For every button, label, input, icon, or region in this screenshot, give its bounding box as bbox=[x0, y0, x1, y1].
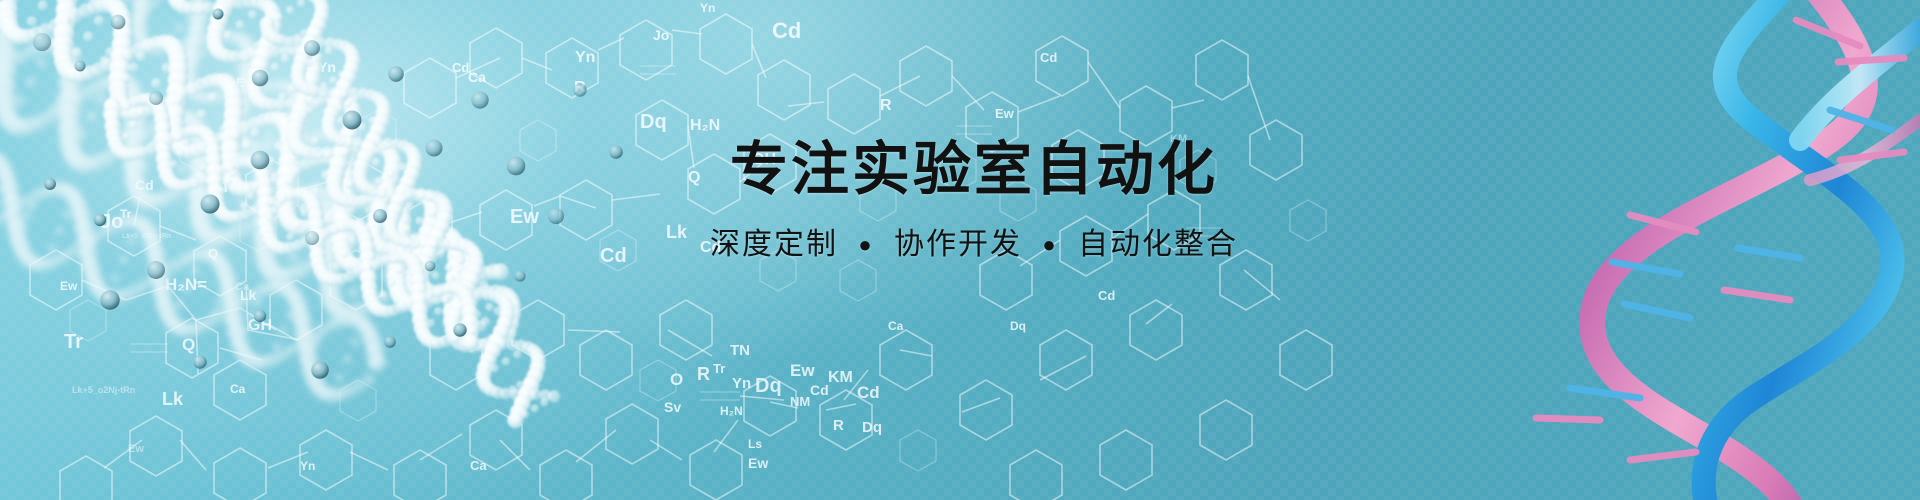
dna-rung-bead bbox=[137, 108, 145, 116]
dna-bead-dark bbox=[111, 15, 126, 30]
chem-label: R bbox=[833, 417, 844, 434]
dna-rung-bead bbox=[200, 48, 209, 57]
helix-base-pair bbox=[1838, 58, 1904, 62]
dna-rung-bead bbox=[143, 7, 152, 16]
dna-rung-bead bbox=[138, 161, 149, 172]
dna-rung-bead bbox=[208, 93, 218, 103]
dna-bead-dark bbox=[74, 60, 85, 71]
chem-label: NM bbox=[790, 394, 810, 409]
chem-label: Cd bbox=[810, 382, 829, 398]
helix-base-pair bbox=[1536, 418, 1600, 420]
dna-bead-dark bbox=[254, 310, 266, 322]
dna-bead-dark bbox=[453, 323, 466, 336]
dna-rung-bead bbox=[428, 209, 436, 217]
dna-rung-bead bbox=[284, 175, 294, 185]
dna-rung-bead bbox=[241, 326, 250, 335]
dna-rung-bead bbox=[27, 16, 37, 26]
dna-rung-bead bbox=[540, 398, 548, 406]
dna-rung-bead bbox=[335, 373, 344, 382]
dna-bead bbox=[548, 390, 560, 402]
dna-rung-bead bbox=[128, 62, 138, 72]
dna-rung-bead bbox=[395, 266, 403, 274]
dna-rung-bead bbox=[38, 0, 48, 10]
chem-label: Ca bbox=[888, 319, 904, 333]
dna-rung-bead bbox=[272, 342, 281, 351]
chem-label: H₂N bbox=[720, 404, 743, 418]
dna-rung-bead bbox=[175, 301, 184, 310]
dna-rung-bead bbox=[235, 20, 244, 29]
dna-rung-bead bbox=[312, 100, 321, 109]
dna-rung-bead bbox=[253, 299, 262, 308]
dna-rung-bead bbox=[403, 225, 411, 233]
dna-rung-bead bbox=[218, 187, 226, 195]
dna-rung-bead bbox=[441, 295, 449, 303]
dna-rung-bead bbox=[15, 96, 26, 107]
dna-bead-dark bbox=[548, 208, 564, 224]
dna-rung-bead bbox=[223, 30, 232, 39]
dna-rung-bead bbox=[36, 58, 47, 69]
dna-rung-bead bbox=[76, 129, 87, 140]
dna-rung-bead bbox=[404, 191, 412, 199]
dna-rung-bead bbox=[55, 227, 64, 236]
dna-rung-bead bbox=[485, 303, 493, 311]
dna-rung-bead bbox=[274, 13, 282, 21]
dna-rung-bead bbox=[531, 404, 539, 412]
pearl-dna-strands bbox=[0, 0, 680, 500]
chem-label: R bbox=[697, 364, 710, 384]
chem-label: Tr bbox=[713, 361, 725, 376]
dna-rung-bead bbox=[177, 163, 188, 174]
dna-rung-bead bbox=[223, 178, 231, 186]
dna-rung-bead bbox=[314, 333, 323, 342]
chem-label: H₂N bbox=[690, 117, 720, 134]
dna-rung-bead bbox=[111, 274, 120, 283]
dna-rung-bead bbox=[169, 160, 177, 168]
dna-rung-bead bbox=[348, 237, 356, 245]
helix-base-pair bbox=[1738, 248, 1800, 258]
dna-bead-dark bbox=[94, 214, 106, 226]
dna-rung-bead bbox=[72, 47, 82, 57]
chem-label: Ew bbox=[748, 455, 768, 471]
dna-rung-bead bbox=[343, 355, 352, 364]
hero-banner: TrJoTrH₂N=GHQLkCaLk+5_o2Nj-tRnLk+5_o2Nj-… bbox=[0, 0, 1920, 500]
dna-bead bbox=[262, 140, 276, 154]
dna-bead-dark bbox=[147, 261, 165, 279]
chem-label: Yn bbox=[732, 375, 751, 392]
dna-rung-bead bbox=[157, 0, 166, 1]
chem-label: Yn bbox=[700, 1, 715, 15]
dna-rung-bead bbox=[286, 6, 294, 14]
dna-bead bbox=[363, 374, 376, 387]
dna-bead bbox=[368, 353, 387, 372]
dna-rung-bead bbox=[23, 212, 32, 221]
dna-rung-bead bbox=[305, 59, 313, 67]
dna-rung-bead bbox=[48, 243, 57, 252]
page-title: 专注实验室自动化 bbox=[604, 140, 1344, 201]
bullet-separator-icon: ● bbox=[848, 232, 883, 257]
dna-bead bbox=[475, 320, 487, 332]
dna-rung-bead bbox=[85, 245, 94, 254]
dna-rung-bead bbox=[521, 410, 529, 418]
helix-base-pair bbox=[1624, 304, 1690, 318]
dna-rung-bead bbox=[151, 78, 161, 88]
subtitle-part-1: 深度定制 bbox=[710, 228, 838, 261]
dna-bead bbox=[10, 203, 23, 216]
dna-bead-dark bbox=[507, 157, 526, 176]
chem-label: Cd bbox=[1040, 50, 1057, 65]
chem-label: Ew bbox=[790, 361, 815, 380]
dna-bead bbox=[492, 263, 509, 280]
dna-rung-bead bbox=[340, 250, 348, 258]
dna-rung-bead bbox=[63, 210, 72, 219]
dna-rung-bead bbox=[18, 223, 27, 232]
chem-label: KM bbox=[828, 369, 853, 386]
dna-rung-bead bbox=[136, 52, 146, 62]
dna-rung-bead bbox=[375, 177, 383, 185]
dna-rung-bead bbox=[229, 169, 237, 177]
dna-rung-bead bbox=[431, 271, 439, 279]
dna-rung-bead bbox=[444, 264, 452, 272]
dna-ribbon-helix bbox=[1500, 0, 1920, 500]
dna-rung-bead bbox=[491, 364, 499, 372]
dna-rung-bead bbox=[274, 200, 282, 208]
dna-rung-bead bbox=[335, 104, 343, 112]
dna-rung-bead bbox=[387, 278, 395, 286]
chem-label: R bbox=[880, 97, 892, 114]
dna-bead-dark bbox=[384, 336, 396, 348]
dna-rung-bead bbox=[86, 111, 97, 122]
helix-base-pair bbox=[1840, 152, 1904, 160]
dna-rung-bead bbox=[247, 192, 255, 200]
chem-label: Ls bbox=[748, 437, 762, 451]
dna-bead-dark bbox=[33, 33, 51, 51]
dna-rung-bead bbox=[434, 307, 442, 315]
dna-bead-dark bbox=[193, 355, 207, 369]
dna-rung-bead bbox=[183, 138, 191, 146]
dna-rung-bead bbox=[333, 262, 341, 270]
chem-label: Cd bbox=[772, 18, 801, 43]
dna-rung-bead bbox=[457, 256, 465, 264]
dna-rung-bead bbox=[286, 233, 294, 241]
dna-bead-dark bbox=[213, 9, 224, 20]
dna-rung-bead bbox=[0, 198, 1, 207]
dna-rung-bead bbox=[242, 140, 252, 150]
dna-rung-bead bbox=[25, 77, 36, 88]
dna-rung-bead bbox=[127, 237, 136, 246]
dna-bead-dark bbox=[200, 194, 219, 213]
helix-base-pair bbox=[1630, 452, 1696, 460]
dna-rung-bead bbox=[343, 100, 351, 108]
dna-bead-dark bbox=[425, 139, 442, 156]
dna-rung-bead bbox=[121, 73, 131, 83]
dna-bead-dark bbox=[44, 178, 56, 190]
dna-bead-dark bbox=[514, 270, 525, 281]
chem-label: TN bbox=[730, 342, 750, 359]
dna-rung-bead bbox=[280, 54, 289, 63]
dna-rung-bead bbox=[351, 95, 359, 103]
dna-bead bbox=[67, 245, 80, 258]
dna-rung-bead bbox=[348, 288, 359, 299]
dna-bead-dark bbox=[251, 151, 270, 170]
dna-rung-bead bbox=[513, 350, 521, 358]
bullet-separator-icon: ● bbox=[1032, 232, 1067, 257]
dna-bead-dark bbox=[305, 231, 319, 245]
dna-bead-dark bbox=[373, 209, 387, 223]
dna-bead-dark bbox=[573, 83, 586, 96]
dna-rung-bead bbox=[191, 267, 200, 276]
dna-rung-bead bbox=[270, 63, 279, 72]
dna-bead-dark bbox=[388, 66, 404, 82]
dna-bead-dark bbox=[471, 91, 488, 108]
dna-rung-bead bbox=[94, 16, 104, 26]
dna-rung-bead bbox=[192, 56, 201, 65]
dna-rung-bead bbox=[279, 327, 288, 336]
dna-rung-bead bbox=[311, 136, 320, 145]
dna-bead-dark bbox=[100, 290, 120, 310]
dna-rung-bead bbox=[119, 255, 128, 264]
banner-subtitle: 深度定制 ● 协作开发 ● 自动化整合 bbox=[604, 219, 1344, 263]
dna-rung-bead bbox=[415, 217, 423, 225]
dna-bead-dark bbox=[252, 70, 269, 87]
dna-bead-dark bbox=[311, 361, 329, 379]
chem-label: Cd bbox=[1098, 288, 1115, 303]
dna-rung-bead bbox=[325, 47, 333, 55]
dna-rung-bead bbox=[329, 76, 337, 84]
dna-rung-bead bbox=[351, 337, 360, 346]
subtitle-part-2: 协作开发 bbox=[894, 228, 1022, 261]
banner-copy: 专注实验室自动化 深度定制 ● 协作开发 ● 自动化整合 bbox=[604, 140, 1344, 263]
dna-rung-bead bbox=[183, 284, 192, 293]
dna-rung-bead bbox=[250, 128, 260, 138]
dna-bead-dark bbox=[304, 40, 320, 56]
chem-label: Dq bbox=[862, 419, 882, 436]
dna-bead bbox=[462, 334, 479, 351]
dna-rung-bead bbox=[196, 109, 206, 119]
dna-rung-bead bbox=[175, 24, 184, 33]
dna-bead-dark bbox=[149, 91, 163, 105]
dna-rung-bead bbox=[150, 0, 159, 9]
chem-label: Cd bbox=[857, 383, 880, 402]
dna-rung-bead bbox=[28, 202, 37, 211]
chem-label: Ew bbox=[995, 106, 1015, 121]
dna-rung-bead bbox=[248, 10, 257, 19]
dna-bead-dark bbox=[343, 111, 362, 130]
dna-rung-bead bbox=[427, 319, 435, 327]
dna-rung-bead bbox=[387, 170, 395, 178]
dna-rung-bead bbox=[176, 149, 184, 157]
chem-label: Dq bbox=[1010, 319, 1026, 333]
dna-rung-bead bbox=[122, 133, 130, 141]
helix-base-pair bbox=[1724, 290, 1790, 300]
dna-bead bbox=[338, 87, 350, 99]
dna-rung-bead bbox=[367, 150, 375, 158]
chem-label: Dq bbox=[755, 375, 782, 397]
dna-rung-bead bbox=[293, 221, 301, 229]
subtitle-part-3: 自动化整合 bbox=[1078, 228, 1238, 261]
dna-rung-bead bbox=[83, 31, 93, 41]
dna-rung-bead bbox=[379, 291, 387, 299]
dna-rung-bead bbox=[129, 120, 137, 128]
dna-rung-bead bbox=[297, 0, 305, 7]
dna-rung-bead bbox=[502, 357, 510, 365]
dna-bead-dark bbox=[425, 261, 436, 272]
